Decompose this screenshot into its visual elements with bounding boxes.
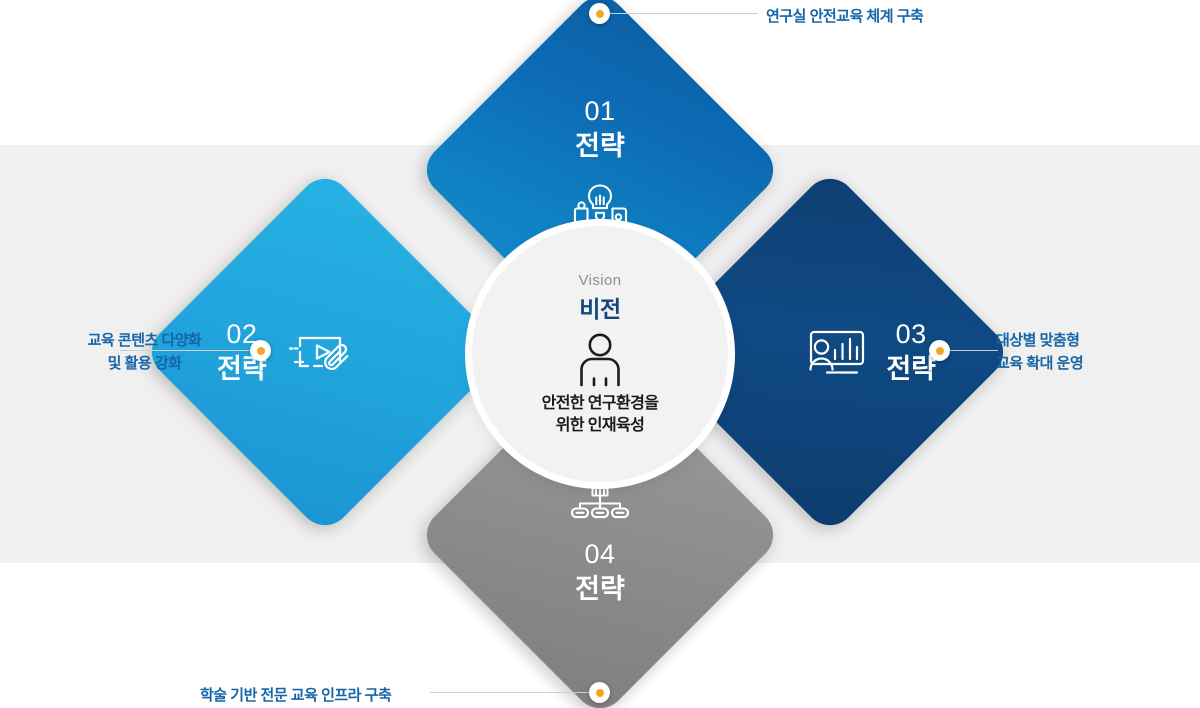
outer-label-02-line2: 및 활용 강화 [62, 352, 227, 375]
vision-circle[interactable]: Vision 비전 안전한 연구환경을 위한 인재육성 [472, 226, 728, 482]
connector-dot-03[interactable] [929, 340, 950, 361]
vision-label-ko: 비전 [579, 290, 621, 324]
connector-line-04 [430, 692, 590, 693]
connector-line-01 [610, 13, 758, 14]
connector-dot-01[interactable] [589, 3, 610, 24]
connector-line-03 [948, 350, 998, 351]
connector-dot-04[interactable] [589, 682, 610, 703]
outer-label-03-line2: 교육 확대 운영 [996, 352, 1166, 375]
outer-label-03: 대상별 맞춤형 교육 확대 운영 [996, 329, 1166, 376]
strategy-label-03: 전략 [886, 352, 936, 387]
strategy-number-01: 01 [584, 94, 615, 129]
outer-label-03-line1: 대상별 맞춤형 [996, 329, 1166, 352]
strategy-label-01: 전략 [575, 129, 625, 164]
strategy-number-03: 03 [896, 317, 927, 352]
connector-dot-02[interactable] [250, 340, 271, 361]
person-icon [575, 332, 625, 388]
vision-description: 안전한 연구환경을 위한 인재육성 [542, 393, 659, 436]
outer-label-02: 교육 콘텐츠 다양화 및 활용 강화 [62, 329, 227, 376]
video-attachment-icon [285, 321, 355, 383]
strategy-number-04: 04 [584, 537, 615, 572]
vision-label-en: Vision [579, 272, 622, 289]
outer-label-02-line1: 교육 콘텐츠 다양화 [62, 329, 227, 352]
person-chart-board-icon [804, 323, 870, 381]
vision-description-line1: 안전한 연구환경을 [542, 393, 659, 415]
strategy-label-04: 전략 [575, 572, 625, 607]
outer-label-04: 학술 기반 전문 교육 인프라 구축 [200, 684, 391, 707]
vision-description-line2: 위한 인재육성 [542, 415, 659, 437]
diagram-canvas: 01 전략 [0, 0, 1200, 708]
outer-label-01: 연구실 안전교육 체계 구축 [766, 5, 923, 28]
